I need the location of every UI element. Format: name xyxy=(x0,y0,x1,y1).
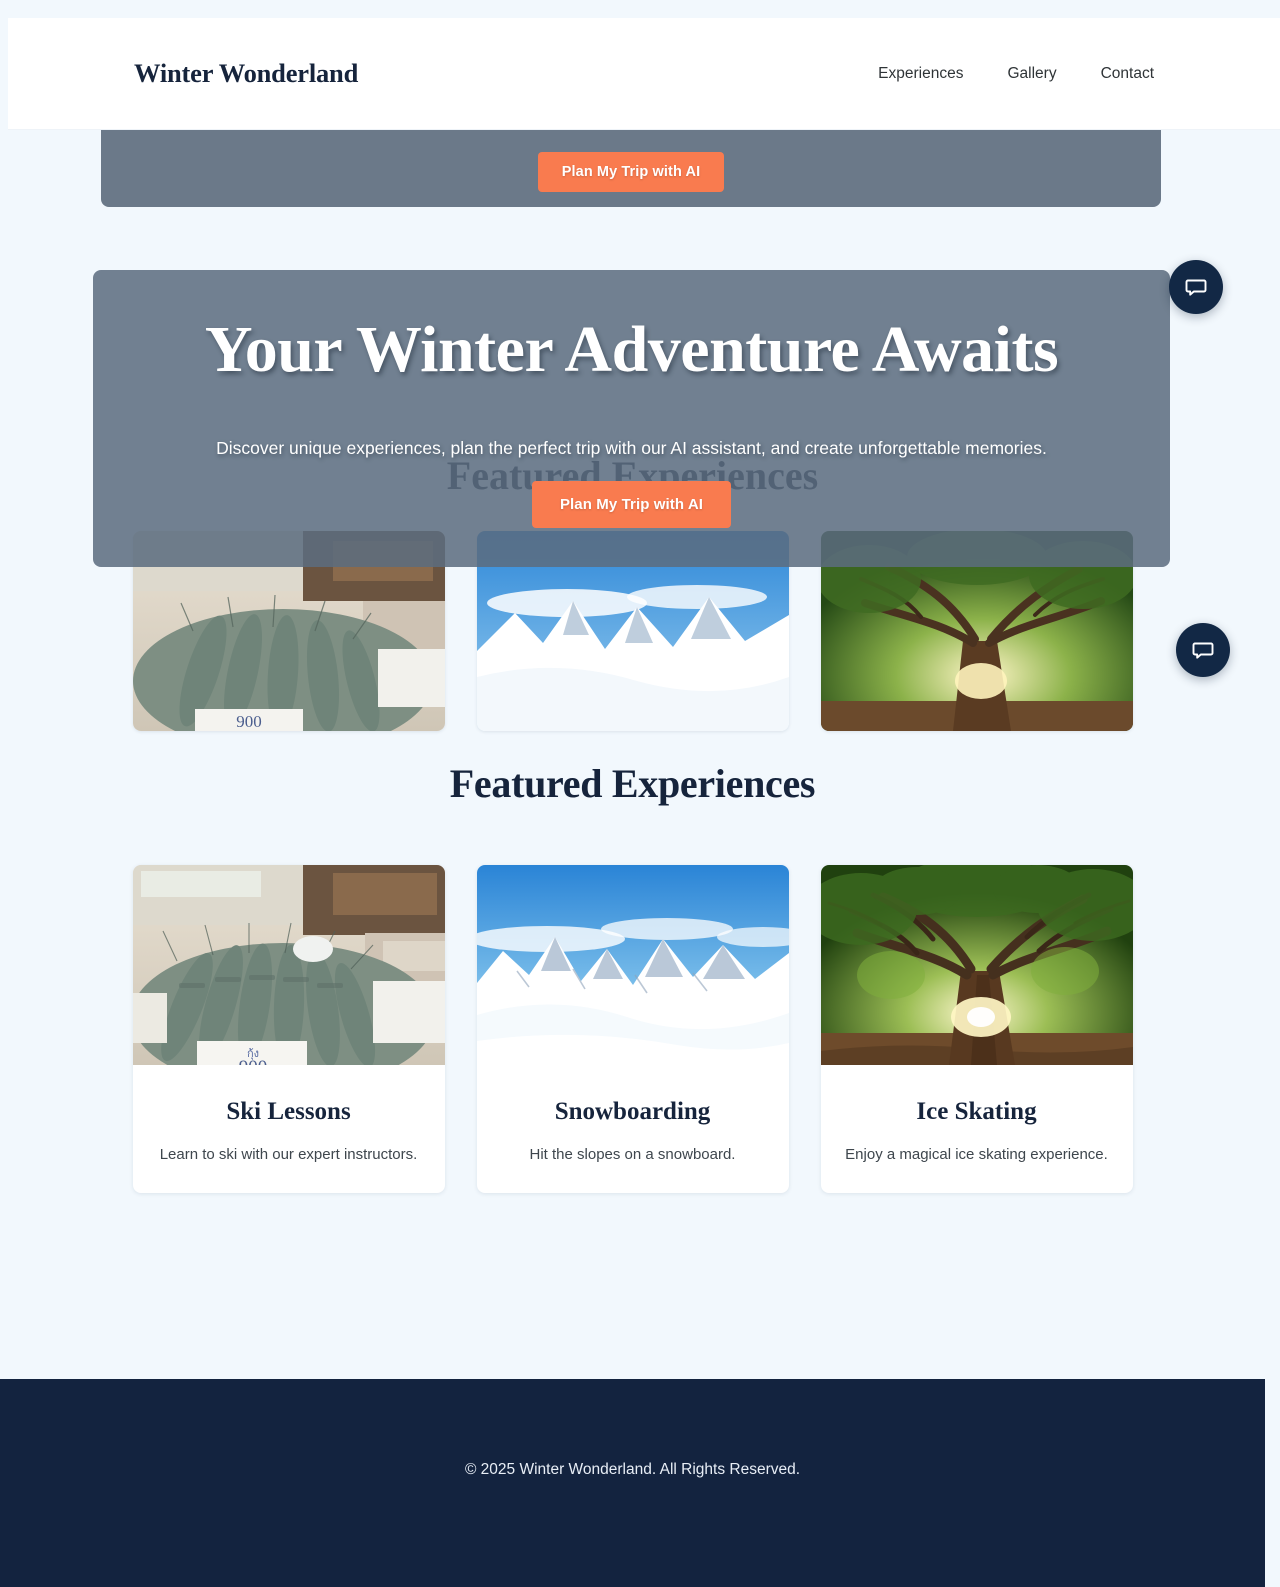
card-media-ski-lessons: กุ้ง 900 xyxy=(133,865,445,1065)
nav-link-experiences[interactable]: Experiences xyxy=(878,65,963,83)
nav-link-gallery[interactable]: Gallery xyxy=(1007,65,1056,83)
footer-copyright: © 2025 Winter Wonderland. All Rights Res… xyxy=(465,1461,800,1479)
experience-card-ski-lessons[interactable]: กุ้ง 900 Ski Lessons Learn to ski with o… xyxy=(133,865,445,1193)
main-navigation: Experiences Gallery Contact xyxy=(878,65,1154,83)
featured-section-title: Featured Experiences xyxy=(0,760,1265,807)
card-title-ski-lessons: Ski Lessons xyxy=(133,1098,445,1126)
prawns-fish-market-image: กุ้ง 900 xyxy=(133,865,445,1065)
hero-subtitle: Discover unique experiences, plan the pe… xyxy=(216,438,1047,459)
snowy-mountain-range-image xyxy=(477,865,789,1065)
page-root: Winter Wonderland Experiences Gallery Co… xyxy=(0,0,1280,1587)
plan-trip-button-hero[interactable]: Plan My Trip with AI xyxy=(532,481,731,528)
sunlit-old-trees-image xyxy=(821,865,1133,1065)
card-title-ice-skating: Ice Skating xyxy=(821,1098,1133,1126)
site-logo[interactable]: Winter Wonderland xyxy=(134,58,358,89)
card-media-ice-skating xyxy=(821,865,1133,1065)
experience-card-snowboarding[interactable]: Snowboarding Hit the slopes on a snowboa… xyxy=(477,865,789,1193)
chat-bubble-icon xyxy=(1184,275,1208,299)
hero-overlay: Your Winter Adventure Awaits Discover un… xyxy=(93,270,1170,567)
experience-card-grid: กุ้ง 900 Ski Lessons Learn to ski with o… xyxy=(0,865,1265,1193)
chat-bubble-icon xyxy=(1191,638,1215,662)
chat-widget-button-lower[interactable] xyxy=(1176,623,1230,677)
card-description-snowboarding: Hit the slopes on a snowboard. xyxy=(477,1146,789,1163)
card-description-ice-skating: Enjoy a magical ice skating experience. xyxy=(821,1146,1133,1163)
nav-link-contact[interactable]: Contact xyxy=(1101,65,1154,83)
site-header: Winter Wonderland Experiences Gallery Co… xyxy=(8,18,1280,130)
chat-widget-button-top[interactable] xyxy=(1169,260,1223,314)
hero-title: Your Winter Adventure Awaits xyxy=(205,315,1058,385)
card-description-ski-lessons: Learn to ski with our expert instructors… xyxy=(133,1146,445,1163)
svg-text:900: 900 xyxy=(236,712,262,731)
card-title-snowboarding: Snowboarding xyxy=(477,1098,789,1126)
site-footer: © 2025 Winter Wonderland. All Rights Res… xyxy=(0,1379,1265,1587)
featured-section: Featured Experiences xyxy=(0,760,1265,1193)
experience-card-ice-skating[interactable]: Ice Skating Enjoy a magical ice skating … xyxy=(821,865,1133,1193)
card-media-snowboarding xyxy=(477,865,789,1065)
svg-text:900: 900 xyxy=(238,1057,267,1065)
plan-trip-button-top[interactable]: Plan My Trip with AI xyxy=(538,152,724,192)
